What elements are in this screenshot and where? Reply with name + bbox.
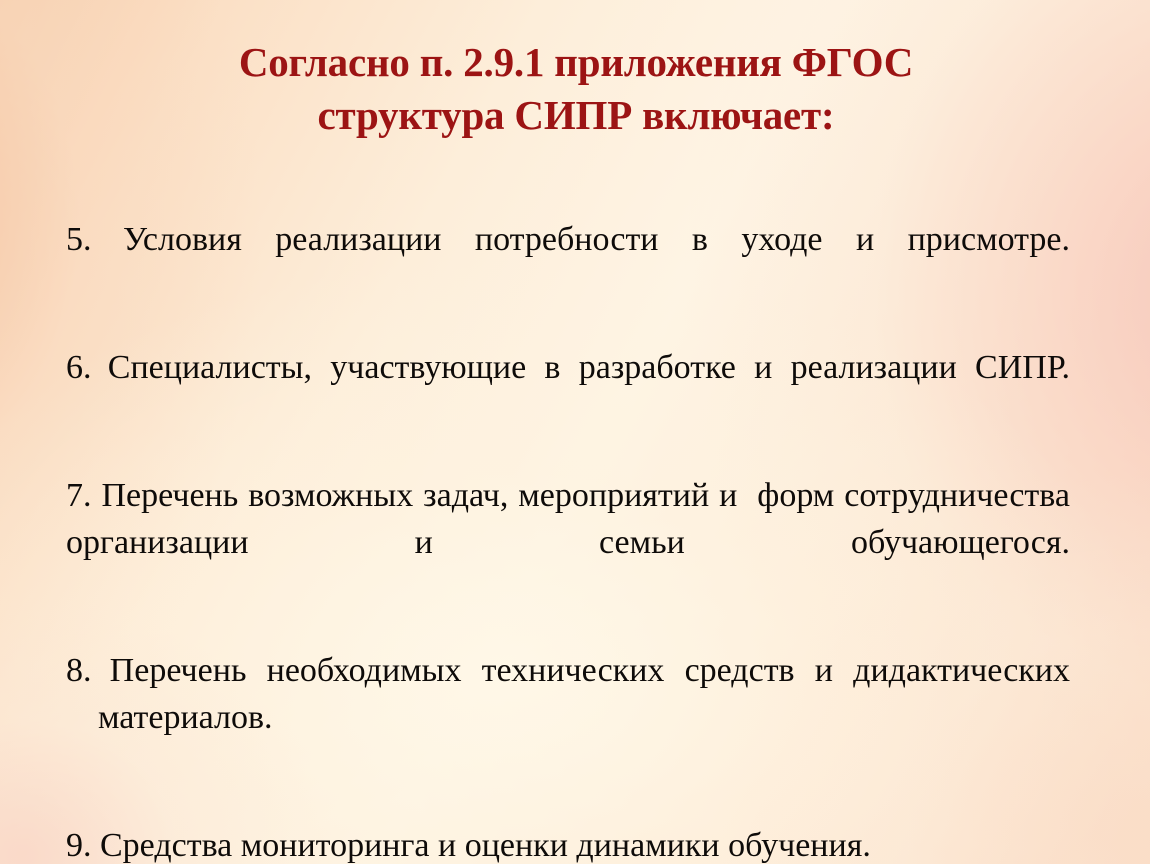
list-item-6: 6. Специалисты, участвующие в разработке… [66,344,1070,438]
presentation-slide: Согласно п. 2.9.1 приложения ФГОС структ… [0,0,1150,864]
list-item-7: 7. Перечень возможных задач, мероприятий… [66,472,1070,613]
slide-body-list: 5. Условия реализации потребности в уход… [66,182,1070,864]
list-item-5: 5. Условия реализации потребности в уход… [66,216,1070,310]
slide-title-line-2: структура СИПР включает: [120,89,1032,142]
list-item-9: 9. Средства мониторинга и оценки динамик… [66,822,1070,864]
slide-title-line-1: Согласно п. 2.9.1 приложения ФГОС [120,36,1032,89]
list-item-8: 8. Перечень необходимых технических сред… [66,647,1070,788]
slide-title: Согласно п. 2.9.1 приложения ФГОС структ… [120,36,1032,142]
slide-content: Согласно п. 2.9.1 приложения ФГОС структ… [0,0,1150,864]
